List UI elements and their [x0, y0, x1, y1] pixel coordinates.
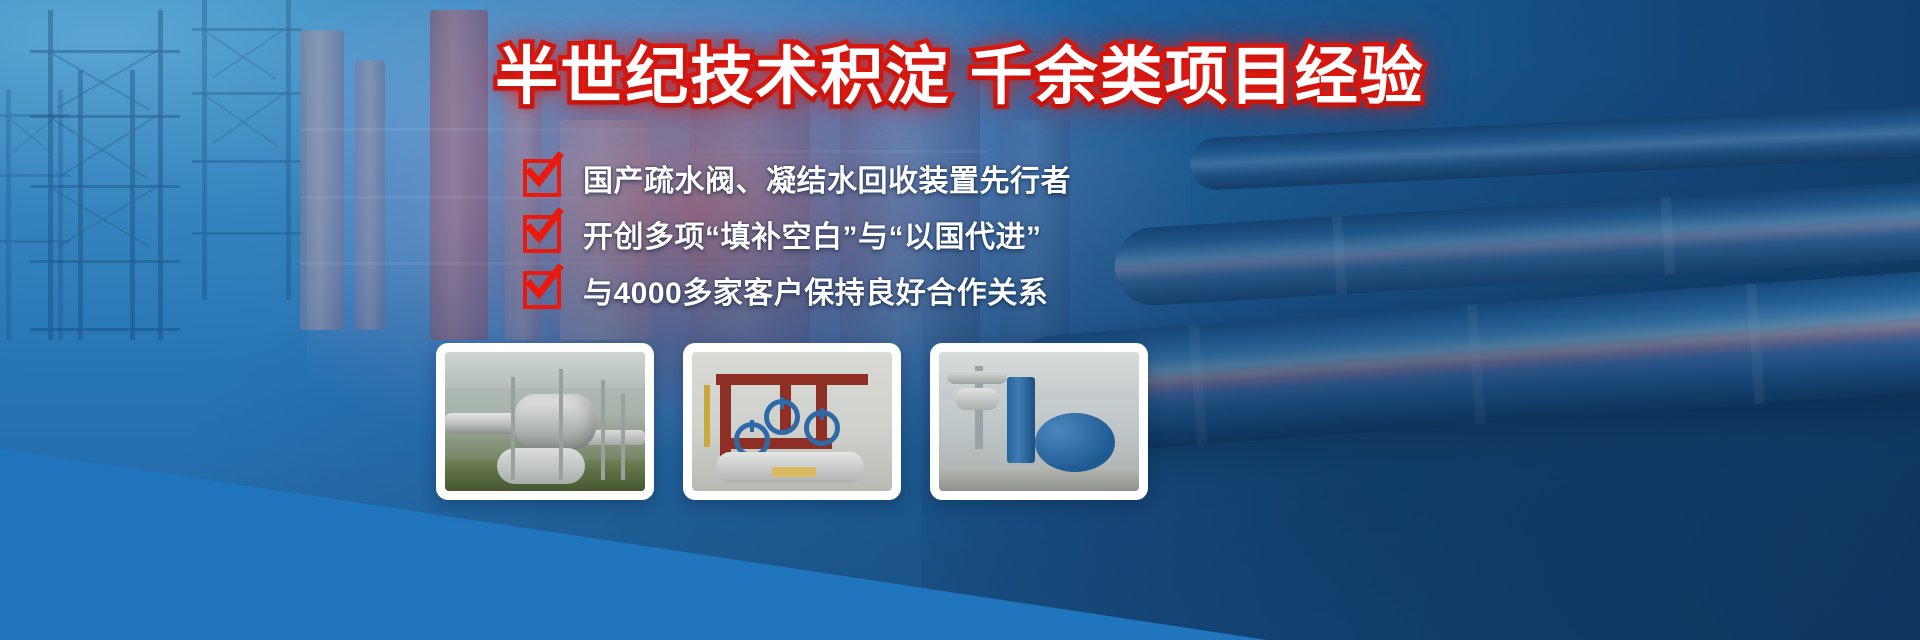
- check-box-icon: [523, 215, 561, 253]
- promo-banner: 半世纪技术积淀 千余类项目经验 国产疏水阀、凝结水回收装置先行者 开创多项“填补…: [0, 0, 1920, 640]
- photo-card-valve-skid[interactable]: [683, 343, 901, 500]
- photo-card-blue-tank[interactable]: [930, 343, 1148, 500]
- photo-card-row: [436, 343, 1148, 500]
- headline-container: 半世纪技术积淀 千余类项目经验: [0, 42, 1920, 113]
- equipment-photo: [692, 352, 892, 491]
- feature-bullet-list: 国产疏水阀、凝结水回收装置先行者 开创多项“填补空白”与“以国代进” 与4000…: [523, 152, 1071, 320]
- equipment-photo: [939, 352, 1139, 491]
- list-item: 开创多项“填补空白”与“以国代进”: [523, 208, 1071, 260]
- photo-card-condensate-vessel[interactable]: [436, 343, 654, 500]
- check-box-icon: [523, 271, 561, 309]
- banner-headline: 半世纪技术积淀 千余类项目经验: [495, 42, 1425, 113]
- equipment-photo: [445, 352, 645, 491]
- list-item: 国产疏水阀、凝结水回收装置先行者: [523, 152, 1071, 204]
- list-item: 与4000多家客户保持良好合作关系: [523, 264, 1071, 316]
- check-box-icon: [523, 159, 561, 197]
- bullet-text: 国产疏水阀、凝结水回收装置先行者: [583, 156, 1071, 200]
- bullet-text: 与4000多家客户保持良好合作关系: [583, 268, 1048, 312]
- bullet-text: 开创多项“填补空白”与“以国代进”: [583, 212, 1042, 256]
